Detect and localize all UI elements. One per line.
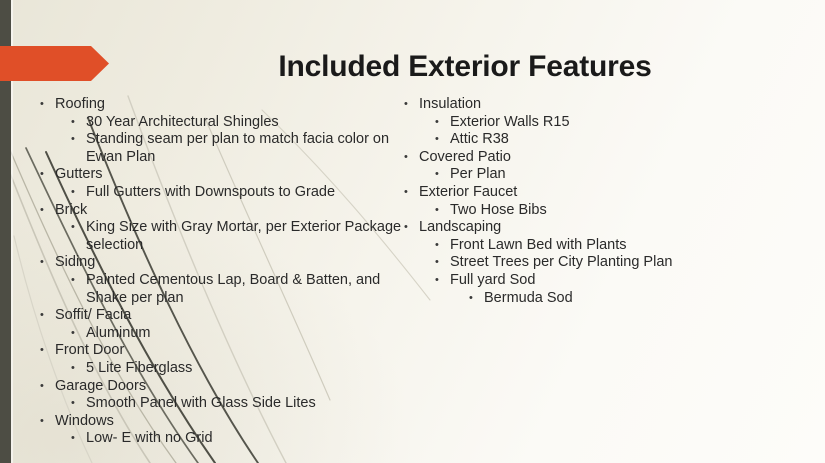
list-item: Windows [36,413,411,431]
list-item: Standing seam per plan to match facia co… [36,131,411,166]
list-item-label: Painted Cementous Lap, Board & Batten, a… [86,272,411,307]
left-column: Roofing30 Year Architectural ShinglesSta… [36,96,411,448]
list-item: Siding [36,254,411,272]
list-item-label: Siding [55,254,411,272]
slide-canvas: Included Exterior Features Roofing30 Yea… [0,0,825,463]
list-item: Front Door [36,342,411,360]
list-item-label: Standing seam per plan to match facia co… [86,131,411,166]
list-item: Gutters [36,166,411,184]
list-item-label: Windows [55,413,411,431]
list-item: Exterior Faucet [400,184,800,202]
list-item: Painted Cementous Lap, Board & Batten, a… [36,272,411,307]
list-item-label: Covered Patio [419,149,800,167]
list-item: Smooth Panel with Glass Side Lites [36,395,411,413]
list-item-label: 30 Year Architectural Shingles [86,114,411,132]
list-item-label: Front Door [55,342,411,360]
list-item: Brick [36,202,411,220]
list-item: Roofing [36,96,411,114]
list-item: Insulation [400,96,800,114]
list-item-label: Exterior Walls R15 [450,114,800,132]
content-columns: Roofing30 Year Architectural ShinglesSta… [0,96,825,456]
list-item-label: Exterior Faucet [419,184,800,202]
list-item: Exterior Walls R15 [400,114,800,132]
list-item: Two Hose Bibs [400,202,800,220]
orange-arrow-banner [0,46,109,81]
list-item: Front Lawn Bed with Plants [400,237,800,255]
list-item-label: King Size with Gray Mortar, per Exterior… [86,219,411,254]
list-item-label: Full yard Sod [450,272,800,290]
list-item-label: Bermuda Sod [484,290,800,308]
left-feature-list: Roofing30 Year Architectural ShinglesSta… [36,96,411,448]
list-item-label: Attic R38 [450,131,800,149]
list-item-label: Landscaping [419,219,800,237]
list-item-label: Smooth Panel with Glass Side Lites [86,395,411,413]
list-item: Aluminum [36,325,411,343]
list-item: Full Gutters with Downspouts to Grade [36,184,411,202]
list-item-label: Full Gutters with Downspouts to Grade [86,184,411,202]
page-title: Included Exterior Features [120,50,810,84]
list-item-label: Insulation [419,96,800,114]
list-item: Landscaping [400,219,800,237]
right-column: InsulationExterior Walls R15Attic R38Cov… [400,96,800,307]
list-item-label: Two Hose Bibs [450,202,800,220]
list-item: Garage Doors [36,378,411,396]
list-item: Soffit/ Facia [36,307,411,325]
list-item: Low- E with no Grid [36,430,411,448]
list-item-label: Per Plan [450,166,800,184]
list-item: Per Plan [400,166,800,184]
list-item: Full yard Sod [400,272,800,290]
list-item-label: Roofing [55,96,411,114]
list-item: Attic R38 [400,131,800,149]
list-item-label: Street Trees per City Planting Plan [450,254,800,272]
list-item: Covered Patio [400,149,800,167]
list-item: Bermuda Sod [400,290,800,308]
list-item-label: Gutters [55,166,411,184]
list-item-label: Soffit/ Facia [55,307,411,325]
list-item-label: Low- E with no Grid [86,430,411,448]
list-item-label: 5 Lite Fiberglass [86,360,411,378]
list-item-label: Garage Doors [55,378,411,396]
list-item: 5 Lite Fiberglass [36,360,411,378]
list-item-label: Front Lawn Bed with Plants [450,237,800,255]
list-item-label: Brick [55,202,411,220]
list-item-label: Aluminum [86,325,411,343]
list-item: King Size with Gray Mortar, per Exterior… [36,219,411,254]
right-feature-list: InsulationExterior Walls R15Attic R38Cov… [400,96,800,307]
list-item: 30 Year Architectural Shingles [36,114,411,132]
list-item: Street Trees per City Planting Plan [400,254,800,272]
